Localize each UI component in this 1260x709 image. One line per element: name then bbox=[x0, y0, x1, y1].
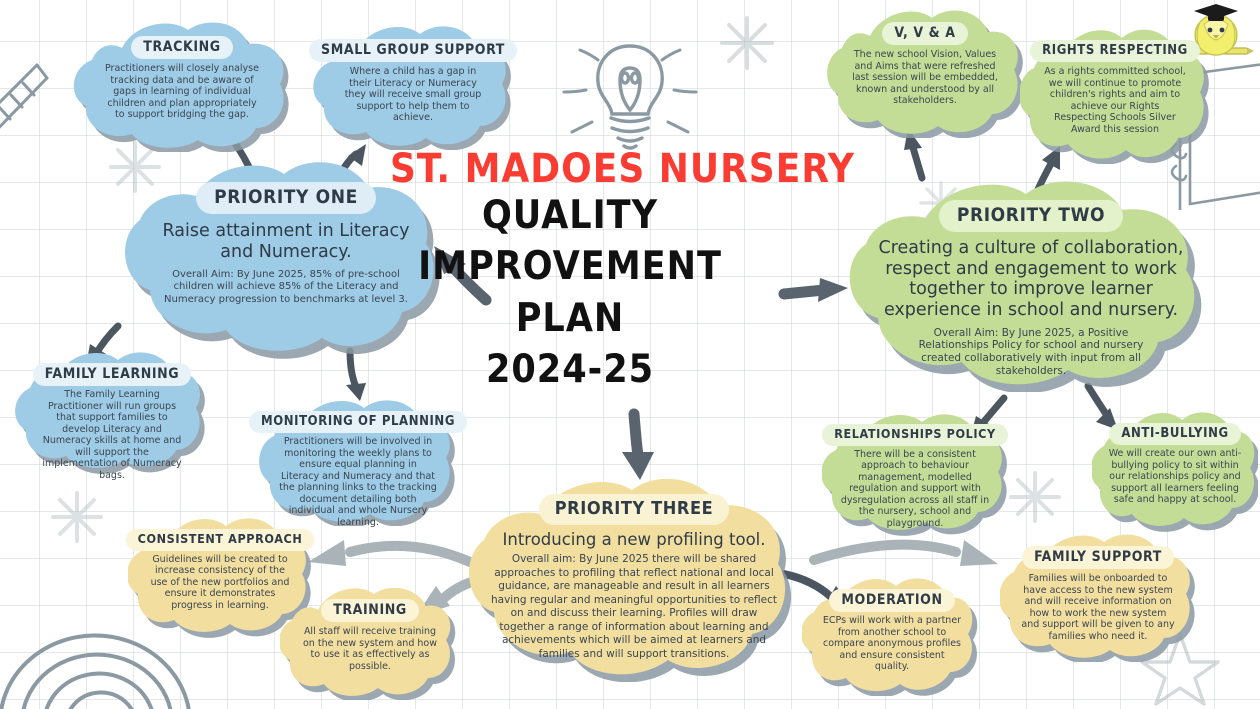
satellite-training: TRAINING All staff will receive training… bbox=[280, 588, 460, 700]
satellite-text: Where a child has a gap in their Literac… bbox=[338, 66, 488, 124]
satellite-text: As a rights committed school, we will co… bbox=[1044, 66, 1186, 135]
title-line: 2024-25 bbox=[390, 344, 750, 395]
satellite-title: FAMILY LEARNING bbox=[33, 363, 192, 386]
satellite-title: MODERATION bbox=[829, 589, 954, 612]
sparkle-icon bbox=[718, 14, 776, 72]
satellite-monitoring-of-planning: MONITORING OF PLANNING Practitioners wil… bbox=[258, 400, 458, 526]
satellite-text: There will be a consistent approach to b… bbox=[840, 449, 990, 530]
satellite-text: Guidelines will be created to increase c… bbox=[150, 554, 290, 612]
satellite-title: MONITORING OF PLANNING bbox=[249, 411, 467, 433]
title-line: QUALITY bbox=[390, 190, 750, 241]
satellite-relationships-policy: RELATIONSHIPS POLICY There will be a con… bbox=[822, 414, 1008, 536]
poster-canvas: PRIORITY ONE Raise attainment in Literac… bbox=[0, 0, 1260, 709]
satellite-text: ECPs will work with a partner from anoth… bbox=[821, 615, 963, 673]
satellite-tracking: TRACKING Practitioners will closely anal… bbox=[72, 22, 292, 152]
satellite-title: RIGHTS RESPECTING bbox=[1030, 40, 1200, 62]
satellite-family-support: FAMILY SUPPORT Families will be onboarde… bbox=[1000, 534, 1196, 662]
priority-one-heading: Raise attainment in Literacy and Numerac… bbox=[159, 221, 414, 262]
page-title: ST. MADOES NURSERY QUALITY IMPROVEMENT P… bbox=[390, 148, 750, 396]
satellite-family-learning: FAMILY LEARNING The Family Learning Prac… bbox=[14, 352, 210, 474]
sparkle-icon bbox=[50, 490, 104, 544]
satellite-title: CONSISTENT APPROACH bbox=[126, 529, 315, 551]
satellite-title: SMALL GROUP SUPPORT bbox=[309, 39, 517, 62]
satellite-small-group-support: SMALL GROUP SUPPORT Where a child has a … bbox=[312, 26, 514, 150]
priority-three-cloud: PRIORITY THREE Introducing a new profili… bbox=[462, 478, 806, 682]
title-line: IMPROVEMENT bbox=[390, 241, 750, 292]
priority-three-heading: Introducing a new profiling tool. bbox=[489, 530, 779, 549]
satellite-text: We will create our own anti-bullying pol… bbox=[1108, 448, 1242, 506]
satellite-vva: V, V & A The new school Vision, Values a… bbox=[826, 10, 1024, 138]
priority-three-aim: Overall aim: By June 2025 there will be … bbox=[489, 553, 779, 661]
satellite-text: Families will be onboarded to have acces… bbox=[1020, 573, 1176, 642]
satellite-title: FAMILY SUPPORT bbox=[1022, 546, 1174, 569]
priority-two-heading: Creating a culture of collaboration, res… bbox=[873, 238, 1189, 321]
satellite-title: V, V & A bbox=[882, 22, 967, 45]
satellite-text: Practitioners will be involved in monito… bbox=[279, 436, 437, 529]
satellite-title: RELATIONSHIPS POLICY bbox=[822, 424, 1008, 446]
satellite-text: Practitioners will closely analyse track… bbox=[103, 63, 261, 121]
satellite-title: TRAINING bbox=[321, 599, 419, 622]
title-line: PLAN bbox=[390, 293, 750, 344]
priority-three-badge: PRIORITY THREE bbox=[539, 494, 730, 525]
sparkle-icon bbox=[1008, 470, 1062, 524]
arrow-to-family-support bbox=[806, 530, 1006, 576]
priority-two-badge: PRIORITY TWO bbox=[939, 200, 1123, 232]
brand-title: ST. MADOES NURSERY bbox=[390, 148, 750, 190]
satellite-text: The new school Vision, Values and Aims t… bbox=[849, 49, 1001, 107]
lightbulb-icon bbox=[562, 28, 698, 158]
satellite-text: All staff will receive training on the n… bbox=[302, 626, 438, 672]
priority-one-aim: Overall Aim: By June 2025, 85% of pre-sc… bbox=[162, 269, 410, 306]
satellite-text: The Family Learning Practitioner will ru… bbox=[37, 389, 187, 482]
satellite-rights-respecting: RIGHTS RESPECTING As a rights committed … bbox=[1020, 28, 1210, 164]
satellite-anti-bullying: ANTI-BULLYING We will create our own ant… bbox=[1092, 412, 1258, 532]
priority-two-aim: Overall Aim: By June 2025, a Positive Re… bbox=[906, 327, 1156, 378]
satellite-title: TRACKING bbox=[131, 36, 232, 59]
arrow-title-to-priority-three bbox=[608, 410, 666, 484]
priority-two-cloud: PRIORITY TWO Creating a culture of colla… bbox=[840, 180, 1222, 392]
satellite-moderation: MODERATION ECPs will work with a partner… bbox=[802, 578, 982, 696]
satellite-title: ANTI-BULLYING bbox=[1109, 423, 1240, 445]
arrow-to-consistent-approach bbox=[300, 528, 480, 578]
priority-one-badge: PRIORITY ONE bbox=[196, 182, 376, 214]
